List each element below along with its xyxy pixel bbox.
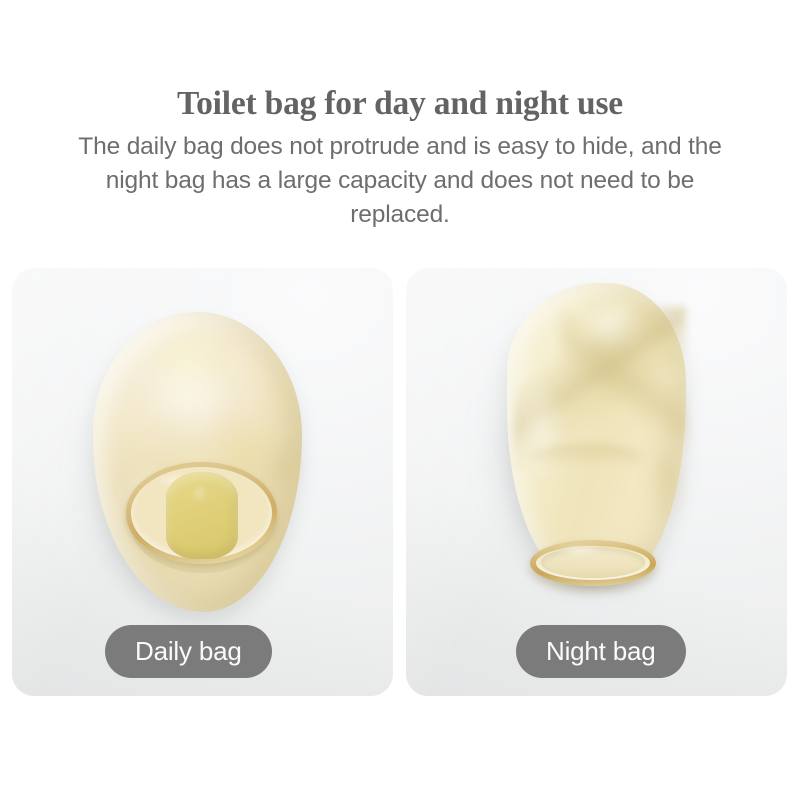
night-bag-pouch <box>507 283 686 576</box>
night-bag-opening-ring <box>530 540 656 586</box>
product-infographic: Toilet bag for day and night use The dai… <box>0 0 800 800</box>
caption-pill-daily-bag[interactable]: Daily bag <box>105 625 272 678</box>
page-subtitle: The daily bag does not protrude and is e… <box>0 130 800 232</box>
daily-bag-inner-pad <box>166 472 238 559</box>
product-panels: Daily bag <box>12 268 788 696</box>
night-bag-shading-right <box>643 412 690 541</box>
night-bag-highlight-left <box>511 359 572 506</box>
night-bag-highlight-top <box>575 289 657 365</box>
panel-night-bag[interactable]: Night bag <box>406 268 787 696</box>
daily-bag-collar <box>126 462 276 573</box>
panel-daily-bag[interactable]: Daily bag <box>12 268 393 696</box>
daily-bag-highlight-top <box>126 336 256 456</box>
page-title: Toilet bag for day and night use <box>0 84 800 124</box>
night-bag-horizontal-fold <box>532 444 643 470</box>
caption-pill-night-bag[interactable]: Night bag <box>516 625 686 678</box>
daily-bag-inner-pad-gloss <box>189 482 211 505</box>
heading-block: Toilet bag for day and night use The dai… <box>0 84 800 232</box>
caption-pill-daily-bag-label: Daily bag <box>135 636 242 667</box>
caption-pill-night-bag-label: Night bag <box>546 636 656 667</box>
night-bag-ring-gloss <box>548 543 611 557</box>
